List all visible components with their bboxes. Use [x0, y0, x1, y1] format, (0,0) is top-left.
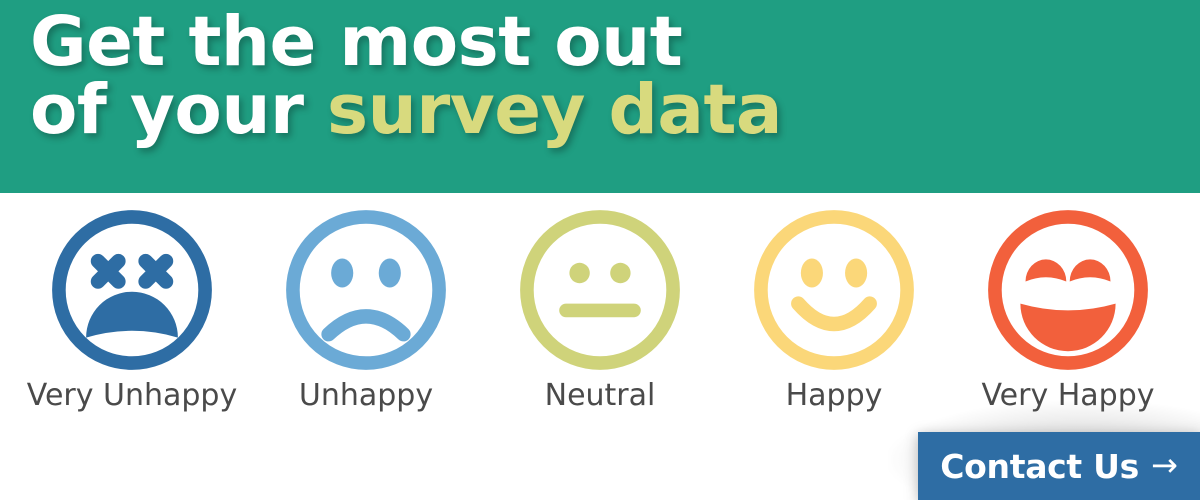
headline-line-1: Get the most out — [30, 8, 870, 76]
page-title: Get the most out of your survey data — [30, 8, 870, 145]
face-neutral-icon — [515, 205, 685, 375]
face-very-unhappy-icon — [47, 205, 217, 375]
scale-option-very-happy[interactable]: Very Happy — [954, 193, 1182, 425]
hero-band: Get the most out of your survey data — [0, 0, 1200, 193]
headline-line-2: of your survey data — [30, 76, 870, 144]
scale-label-neutral: Neutral — [545, 379, 656, 413]
scale-option-unhappy[interactable]: Unhappy — [252, 193, 480, 425]
face-unhappy-icon — [281, 205, 451, 375]
scale-label-very-unhappy: Very Unhappy — [27, 379, 237, 413]
scale-label-very-happy: Very Happy — [981, 379, 1154, 413]
face-happy-icon — [749, 205, 919, 375]
scale-label-happy: Happy — [786, 379, 883, 413]
contact-us-label: Contact Us — [940, 447, 1139, 486]
contact-us-button[interactable]: Contact Us → — [918, 432, 1200, 500]
scale-label-unhappy: Unhappy — [299, 379, 433, 413]
survey-promo-banner: Get the most out of your survey data Ver… — [0, 0, 1200, 500]
headline-line-2-plain: of your — [30, 70, 327, 150]
scale-option-neutral[interactable]: Neutral — [486, 193, 714, 425]
scale-option-very-unhappy[interactable]: Very Unhappy — [18, 193, 246, 425]
face-very-happy-icon — [983, 205, 1153, 375]
scale-option-happy[interactable]: Happy — [720, 193, 948, 425]
headline-line-2-accent: survey data — [327, 70, 782, 150]
arrow-right-icon: → — [1151, 449, 1178, 481]
satisfaction-scale: Very Unhappy Unhappy Neutral — [0, 193, 1200, 425]
